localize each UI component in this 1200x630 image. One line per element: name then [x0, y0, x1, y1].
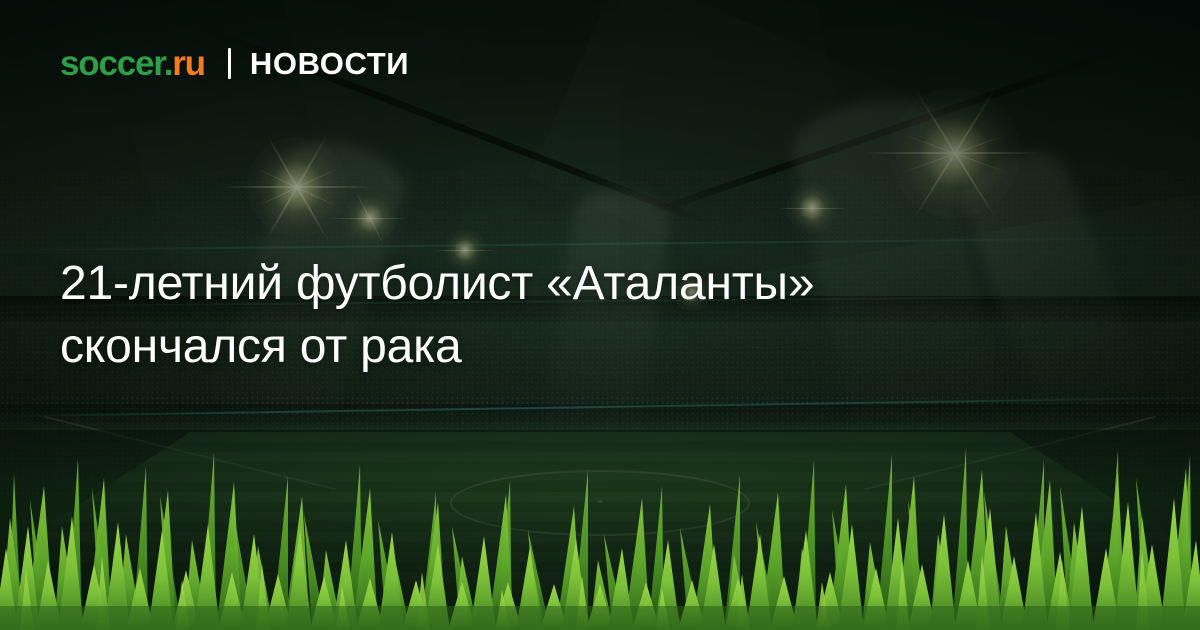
logo-tld-text: ru — [172, 44, 205, 83]
page-title: 21-летний футболист «Аталанты» скончался… — [60, 252, 1070, 378]
headline-line-1: 21-летний футболист «Аталанты» — [60, 252, 1070, 315]
header-separator — [228, 48, 231, 79]
headline-line-2: скончался от рака — [60, 315, 1070, 378]
logo-dot: . — [164, 44, 173, 83]
site-logo[interactable]: soccer.ru — [60, 46, 205, 81]
logo-brand-text: soccer — [60, 44, 164, 83]
site-header: soccer.ru НОВОСТИ — [60, 46, 409, 81]
section-label: НОВОСТИ — [250, 48, 409, 79]
news-cover-card: soccer.ru НОВОСТИ 21-летний футболист «А… — [0, 0, 1200, 630]
